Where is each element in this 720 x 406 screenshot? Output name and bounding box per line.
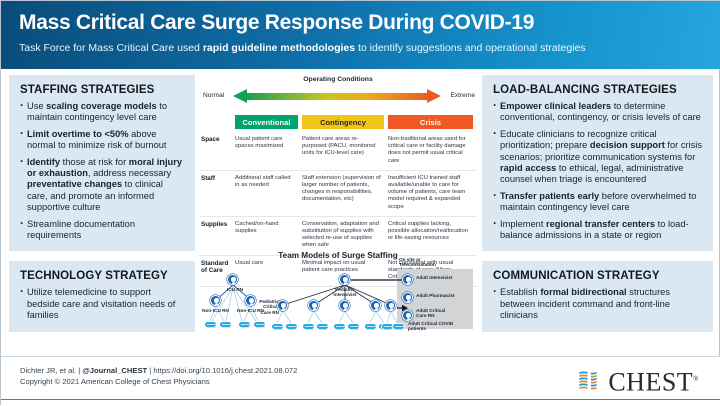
text-bold: Transfer patients early [500, 191, 599, 201]
cell-conventional: Usual patient care spaces maximized [235, 132, 302, 170]
text-bold: decision support [590, 140, 665, 150]
scale-label-normal: Normal [203, 92, 224, 99]
consult-box-heading: On site or Teleconsultation [399, 257, 453, 268]
text-bold-3: preventative changes [27, 179, 122, 189]
patient-pill [238, 321, 251, 328]
poster-header: Mass Critical Care Surge Response During… [1, 1, 720, 69]
text-bold: Empower clinical leaders [500, 101, 611, 111]
patient-pill [271, 323, 284, 330]
node-adult-intensivist [402, 274, 413, 285]
citation-block: Dichter JR, et al. | @Journal_CHEST | ht… [20, 365, 297, 387]
load-balancing-list: Empower clinical leaders to determine co… [493, 101, 703, 241]
list-item: Streamline documentation requirements [20, 219, 185, 242]
text-bold: Limit overtime to <50% [27, 129, 129, 139]
team-models-diagram: Team Models of Surge Staffing [199, 251, 477, 353]
cell-contingency: Patient care areas re-purposed (PACU, mo… [302, 132, 388, 170]
patient-pill [333, 323, 346, 330]
operating-conditions-caption: Operating Conditions [199, 76, 477, 83]
text-pre: Establish [500, 287, 540, 297]
patient-pill [285, 323, 298, 330]
node-pediatric-critical-care-rn [339, 300, 350, 311]
patient-pill [392, 323, 405, 330]
text-bold: formal bidirectional [540, 287, 626, 297]
label-adult-critical-covid-patients: Adult Critical COVID patients [408, 321, 454, 332]
poster-footer: Dichter JR, et al. | @Journal_CHEST | ht… [1, 356, 720, 406]
label-adult-intensivist: Adult Intensivist [416, 275, 456, 280]
copyright-line: Copyright © 2021 American College of Che… [20, 376, 297, 387]
row-label: Supplies [199, 216, 235, 255]
table-header-row: Conventional Contingency Crisis [199, 115, 477, 132]
technology-strategy-panel: TECHNOLOGY STRATEGY Utilize telemedicine… [9, 261, 195, 331]
panel-gap [9, 251, 195, 261]
staffing-strategies-panel: STAFFING STRATEGIES Use scaling coverage… [9, 75, 195, 251]
list-item: Use scaling coverage models to maintain … [20, 101, 185, 124]
cell-contingency: Conservation, adaptation and substitutio… [302, 216, 388, 255]
table-header: Conventional Contingency Crisis [199, 115, 477, 132]
infographic-poster: Mass Critical Care Surge Response During… [0, 0, 720, 405]
label-non-icu-rn-1: Non-ICU RN [200, 308, 231, 313]
label-pediatric-intensivist: Pediatric Intensivist [323, 287, 367, 298]
node-pediatric-critical-care-rn [370, 300, 381, 311]
separator: | [78, 366, 80, 375]
gradient-arrow-bar [233, 89, 441, 104]
registered-mark: ® [693, 375, 699, 383]
column-header-crisis: Crisis [388, 115, 477, 132]
page-subtitle: Task Force for Mass Critical Care used r… [19, 41, 703, 55]
label-pediatric-critical-care-rn: Pediatric Critical Care RN [257, 299, 279, 315]
text-bold: scaling coverage models [46, 101, 157, 111]
text-pre: Streamline documentation requirements [27, 219, 135, 240]
table-row: Space Usual patient care spaces maximize… [199, 132, 477, 170]
node-adult-pharmacist [402, 292, 413, 303]
node-pediatric-intensivist [339, 274, 350, 285]
list-item: Utilize telemedicine to support bedside … [20, 287, 185, 321]
list-item: Implement regional transfer centers to l… [493, 219, 703, 242]
node-icu-rn [227, 274, 238, 285]
node-pediatric-critical-care-rn [277, 300, 288, 311]
node-non-icu-rn-2 [245, 295, 256, 306]
text-bold: regional transfer centers [546, 219, 655, 229]
citation-line: Dichter JR, et al. | @Journal_CHEST | ht… [20, 365, 297, 376]
column-header-blank [199, 115, 235, 132]
left-column: STAFFING STRATEGIES Use scaling coverage… [9, 75, 195, 332]
staffing-strategies-heading: STAFFING STRATEGIES [20, 84, 185, 96]
cell-contingency: Staff extension (supervision of larger n… [302, 170, 388, 216]
text-post: those at risk for [60, 157, 129, 167]
panel-gap [482, 251, 713, 261]
gradient-bar [246, 93, 428, 100]
list-item: Empower clinical leaders to determine co… [493, 101, 703, 124]
text-pre: Use [27, 101, 46, 111]
row-label: Staff [199, 170, 235, 216]
list-item: Transfer patients early before overwhelm… [493, 191, 703, 214]
label-adult-pharmacist: Adult Pharmacist [416, 293, 456, 298]
text-bold-2: rapid access [500, 163, 556, 173]
separator: | [149, 366, 151, 375]
conventional-badge: Conventional [235, 115, 298, 129]
chest-logo-mark [578, 369, 604, 393]
text-pre: Implement [500, 219, 546, 229]
text-post-2: , address necessary [88, 168, 171, 178]
cell-conventional: Cached/on-hand supplies [235, 216, 302, 255]
column-header-contingency: Contingency [302, 115, 388, 132]
text-bold: Identify [27, 157, 60, 167]
label-adult-critical-care-rn: Adult Critical Care RN [416, 308, 456, 319]
chest-wordmark: CHEST [608, 368, 693, 397]
subtitle-pre: Task Force for Mass Critical Care used [19, 42, 203, 54]
node-pediatric-critical-care-rn [385, 300, 396, 311]
patient-pill [364, 323, 377, 330]
list-item: Educate clinicians to recognize critical… [493, 129, 703, 186]
list-item: Limit overtime to <50% above normal to m… [20, 129, 185, 152]
table-row: Staff Additional staff called in as need… [199, 170, 477, 216]
patient-pill [302, 323, 315, 330]
chest-logo-text: CHEST® [608, 366, 699, 396]
text-pre: Utilize telemedicine to support bedside … [27, 287, 175, 320]
communication-strategy-panel: COMMUNICATION STRATEGY Establish formal … [482, 261, 713, 331]
cell-crisis: Critical supplies lacking, possible allo… [388, 216, 477, 255]
authors: Dichter JR, et al. [20, 366, 76, 375]
twitter-handle[interactable]: @Journal_CHEST [82, 366, 147, 375]
label-icu-rn: ICU RN [221, 287, 249, 292]
row-label: Space [199, 132, 235, 170]
load-balancing-heading: LOAD-BALANCING STRATEGIES [493, 84, 703, 96]
technology-strategy-heading: TECHNOLOGY STRATEGY [20, 270, 185, 282]
node-adult-critical-care-rn [402, 310, 413, 321]
cell-conventional: Additional staff called in as needed [235, 170, 302, 216]
communication-strategy-heading: COMMUNICATION STRATEGY [493, 270, 703, 282]
node-pediatric-critical-care-rn [308, 300, 319, 311]
crisis-badge: Crisis [388, 115, 473, 129]
arrow-right-icon [427, 89, 441, 103]
staffing-strategies-list: Use scaling coverage models to maintain … [20, 101, 185, 241]
patient-pill [253, 321, 266, 328]
technology-strategy-list: Utilize telemedicine to support bedside … [20, 287, 185, 321]
subtitle-post: to identify suggestions and operational … [355, 42, 586, 54]
footer-rule [1, 399, 720, 400]
communication-strategy-list: Establish formal bidirectional structure… [493, 287, 703, 321]
cell-crisis: Non-traditional areas used for critical … [388, 132, 477, 170]
arrow-left-icon [233, 89, 247, 103]
doi-link[interactable]: https://doi.org/10.1016/j.chest.2021.08.… [153, 366, 297, 375]
patient-pill [204, 321, 217, 328]
patient-pill [316, 323, 329, 330]
scale-label-extreme: Extreme [450, 92, 475, 99]
chest-logo: CHEST® [578, 366, 699, 396]
node-non-icu-rn-1 [210, 295, 221, 306]
load-balancing-strategies-panel: LOAD-BALANCING STRATEGIES Empower clinic… [482, 75, 713, 251]
patient-pill [347, 323, 360, 330]
table-row: Supplies Cached/on-hand supplies Conserv… [199, 216, 477, 255]
right-column: LOAD-BALANCING STRATEGIES Empower clinic… [482, 75, 713, 332]
cell-crisis: Insufficient ICU trained staff available… [388, 170, 477, 216]
patient-pill [219, 321, 232, 328]
list-item: Identify those at risk for moral injury … [20, 157, 185, 214]
list-item: Establish formal bidirectional structure… [493, 287, 703, 321]
contingency-badge: Contingency [302, 115, 384, 129]
subtitle-emphasis: rapid guideline methodologies [203, 42, 355, 54]
column-header-conventional: Conventional [235, 115, 302, 132]
operating-conditions-scale: Operating Conditions Normal Extreme [199, 75, 477, 115]
page-title: Mass Critical Care Surge Response During… [19, 10, 703, 35]
